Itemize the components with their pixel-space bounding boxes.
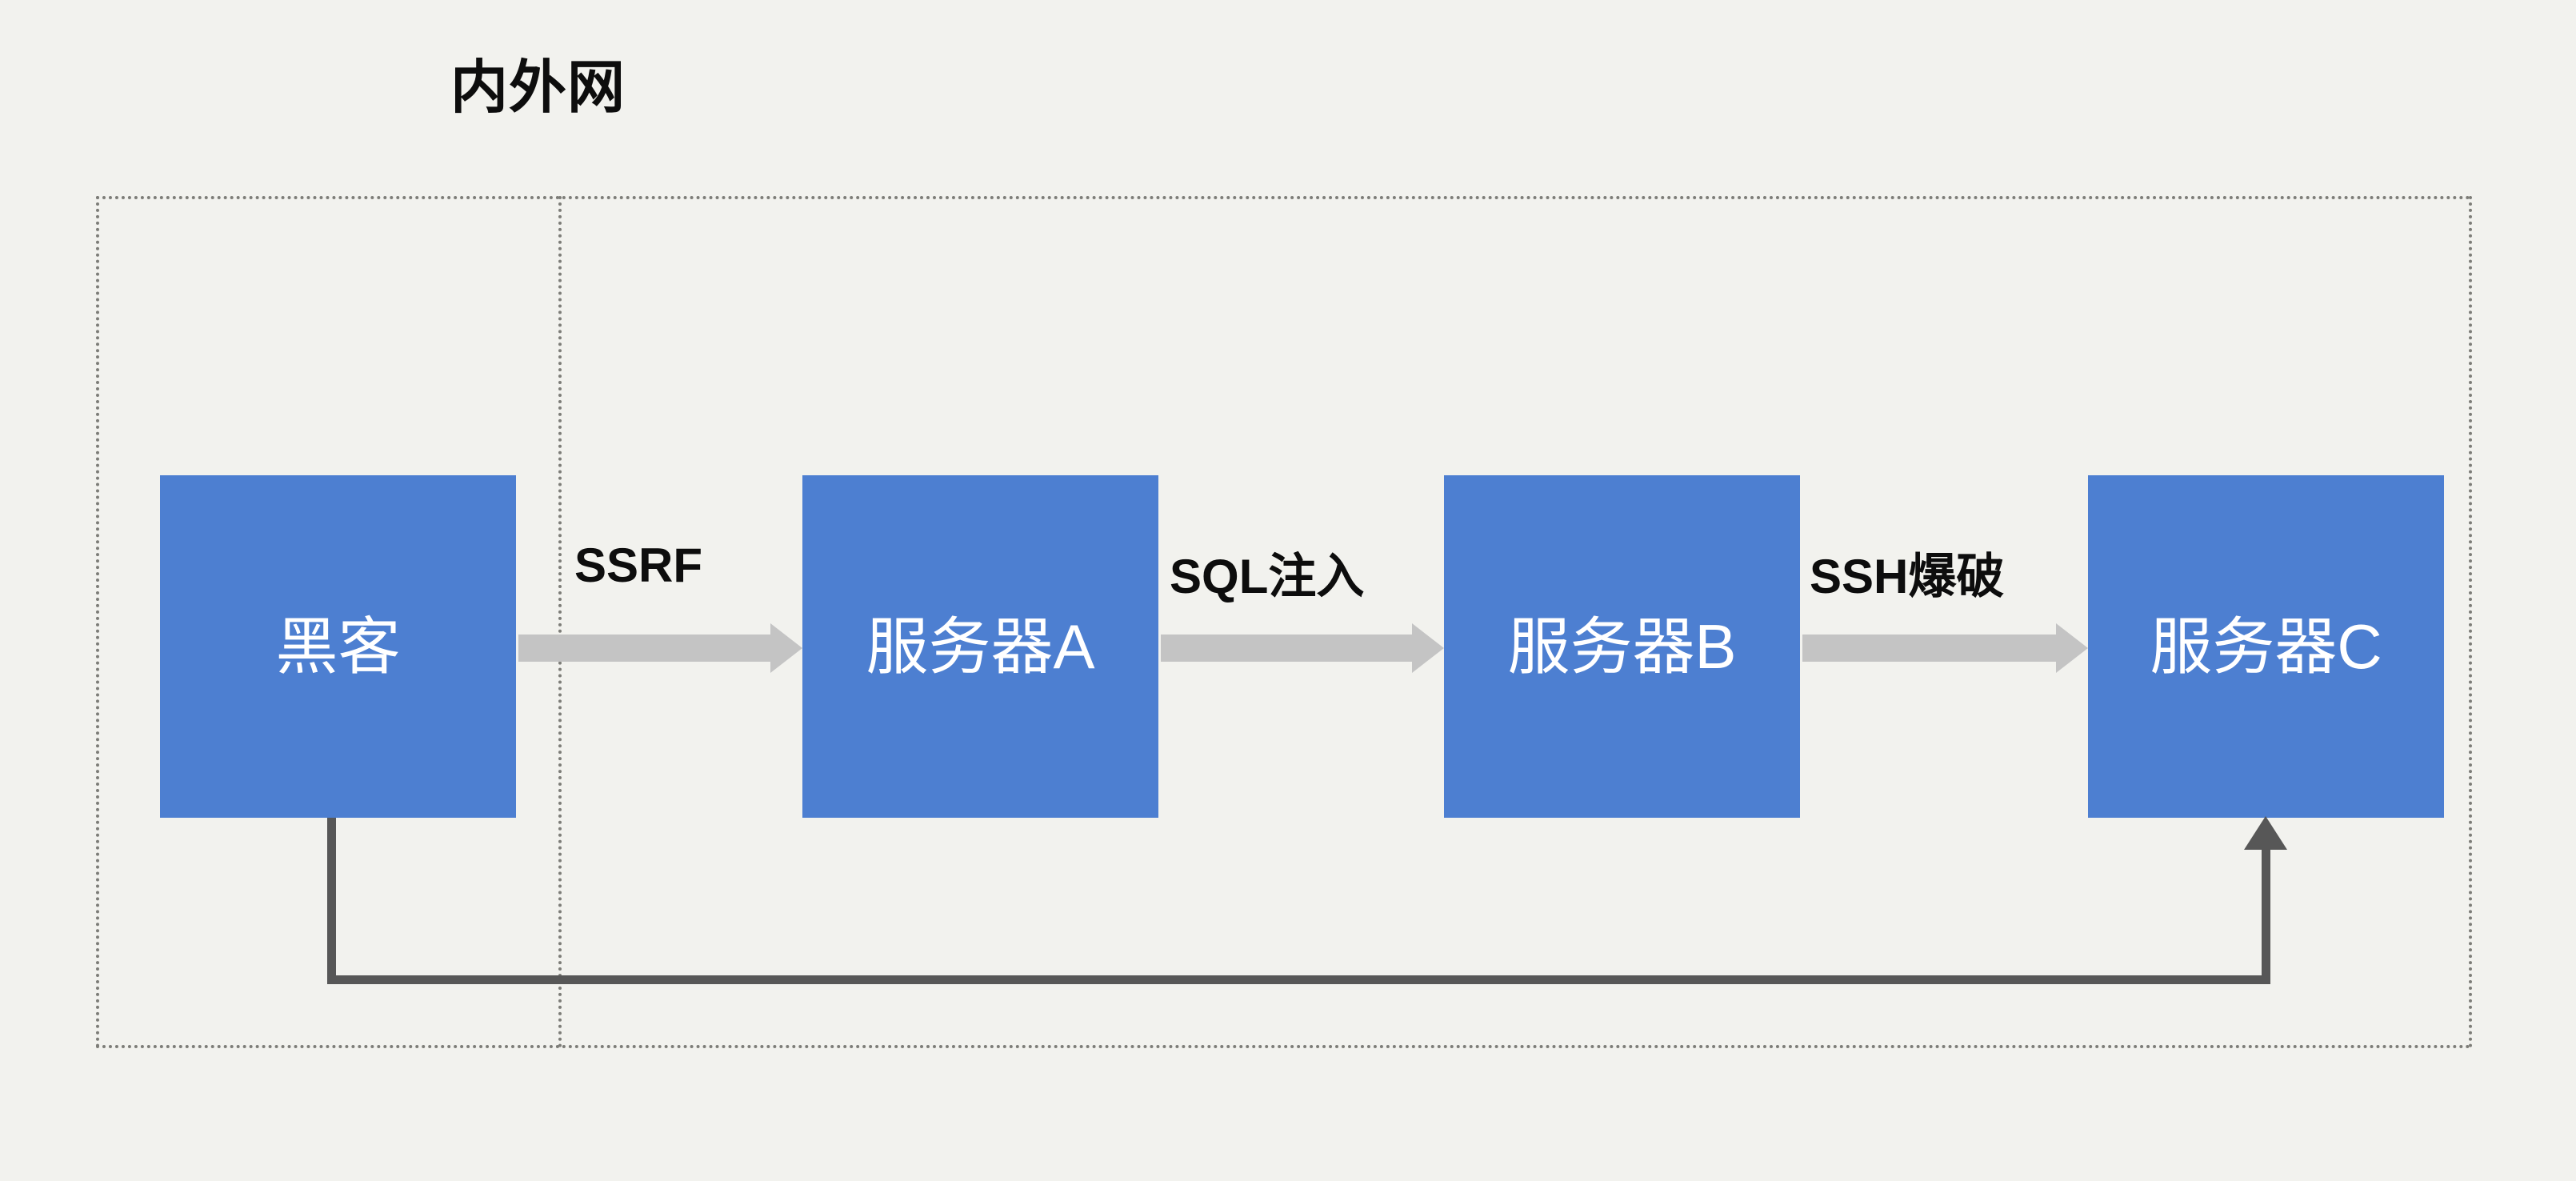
return-path-segment-across [327,975,2266,984]
flow-arrow-hacker-to-server-a [518,635,802,662]
flow-label-sql-injection: SQL注入 [1170,538,1364,607]
arrow-shaft [1161,635,1412,662]
node-server-a-label: 服务器A [866,615,1094,678]
page-title: 内外网 [450,40,626,124]
arrow-head-up-icon [2244,816,2287,850]
arrow-head-right-icon [2056,623,2088,673]
internal-external-divider [558,196,562,1048]
node-server-c-label: 服务器C [2150,615,2382,678]
return-path-segment-up [2262,846,2270,984]
node-hacker-label: 黑客 [275,615,400,678]
node-server-c[interactable]: 服务器C [2088,475,2444,818]
arrow-head-right-icon [1412,623,1444,673]
arrow-head-right-icon [770,623,802,673]
flow-arrow-server-b-to-server-c [1802,635,2088,662]
arrow-shaft [518,635,770,662]
flow-label-ssrf: SSRF [574,538,702,593]
node-server-a[interactable]: 服务器A [802,475,1158,818]
node-server-b-label: 服务器B [1507,615,1736,678]
return-path-segment-down [327,818,336,984]
flow-arrow-server-a-to-server-b [1161,635,1444,662]
node-server-b[interactable]: 服务器B [1444,475,1800,818]
diagram-canvas: 内外网 黑客 服务器A 服务器B 服务器C SSRF SQL注入 SSH爆破 [0,0,2576,1181]
flow-label-ssh-bruteforce: SSH爆破 [1810,538,2004,607]
arrow-shaft [1802,635,2056,662]
node-hacker[interactable]: 黑客 [160,475,516,818]
